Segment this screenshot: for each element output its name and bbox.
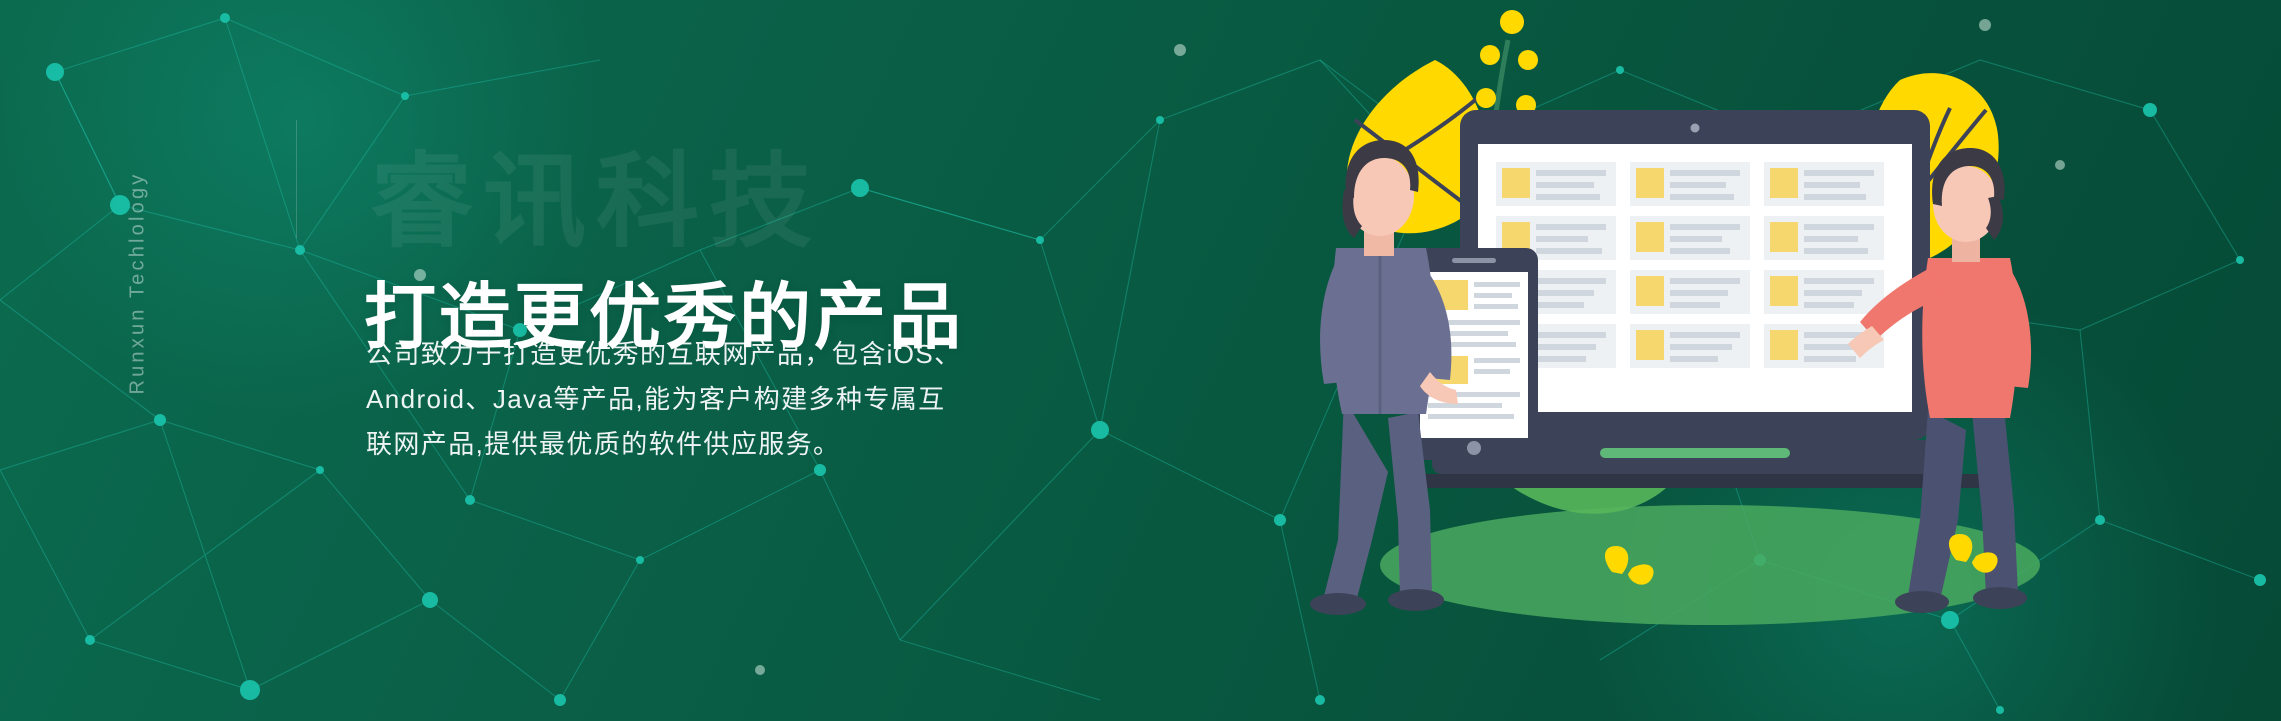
vertical-divider-rule — [296, 120, 297, 238]
hero-description: 公司致力于打造更优秀的互联网产品，包含iOS、 Android、Java等产品,… — [366, 332, 1166, 467]
description-line: Android、Java等产品,能为客户构建多种专属互 — [366, 377, 1166, 422]
description-line: 公司致力于打造更优秀的互联网产品，包含iOS、 — [366, 332, 1166, 377]
watermark-company-name: 睿讯科技 — [370, 118, 822, 267]
hero-banner: 睿讯科技 Runxun Techlology 打造更优秀的产品 公司致力于打造更… — [0, 0, 2281, 721]
vertical-brand-label: Runxun Techlology — [127, 172, 150, 502]
description-line: 联网产品,提供最优质的软件供应服务。 — [366, 422, 1166, 467]
hero-illustration — [1280, 0, 2100, 721]
